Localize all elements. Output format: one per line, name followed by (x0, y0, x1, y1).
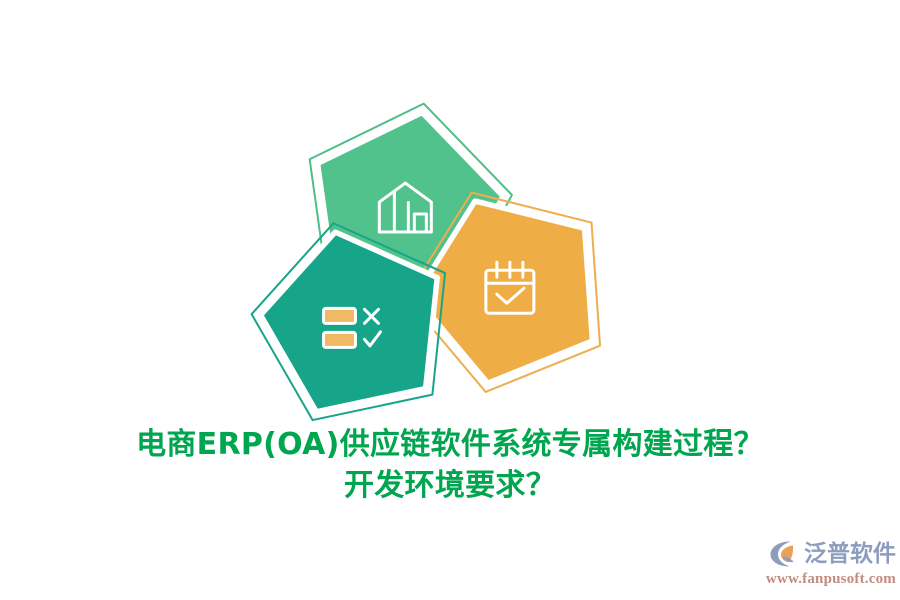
page-title-line-2: 开发环境要求？ (0, 465, 900, 506)
checklist-bar-bottom (323, 332, 355, 347)
page-title: 电商ERP(OA)供应链软件系统专属构建过程？ 开发环境要求？ (0, 424, 900, 506)
brand-logo: 泛普软件 www.fanpusoft.com (760, 538, 896, 588)
fanpu-swoosh-icon (769, 540, 799, 568)
canvas: 电商ERP(OA)供应链软件系统专属构建过程？ 开发环境要求？ 泛普软件 www… (0, 0, 900, 600)
page-title-line-1: 电商ERP(OA)供应链软件系统专属构建过程？ (0, 424, 900, 465)
pentagon-cluster-graphic (255, 95, 615, 425)
brand-name: 泛普软件 (804, 543, 896, 566)
brand-url: www.fanpusoft.com (766, 572, 896, 587)
checklist-bar-top (323, 308, 355, 323)
brand-logo-row: 泛普软件 (769, 538, 896, 570)
